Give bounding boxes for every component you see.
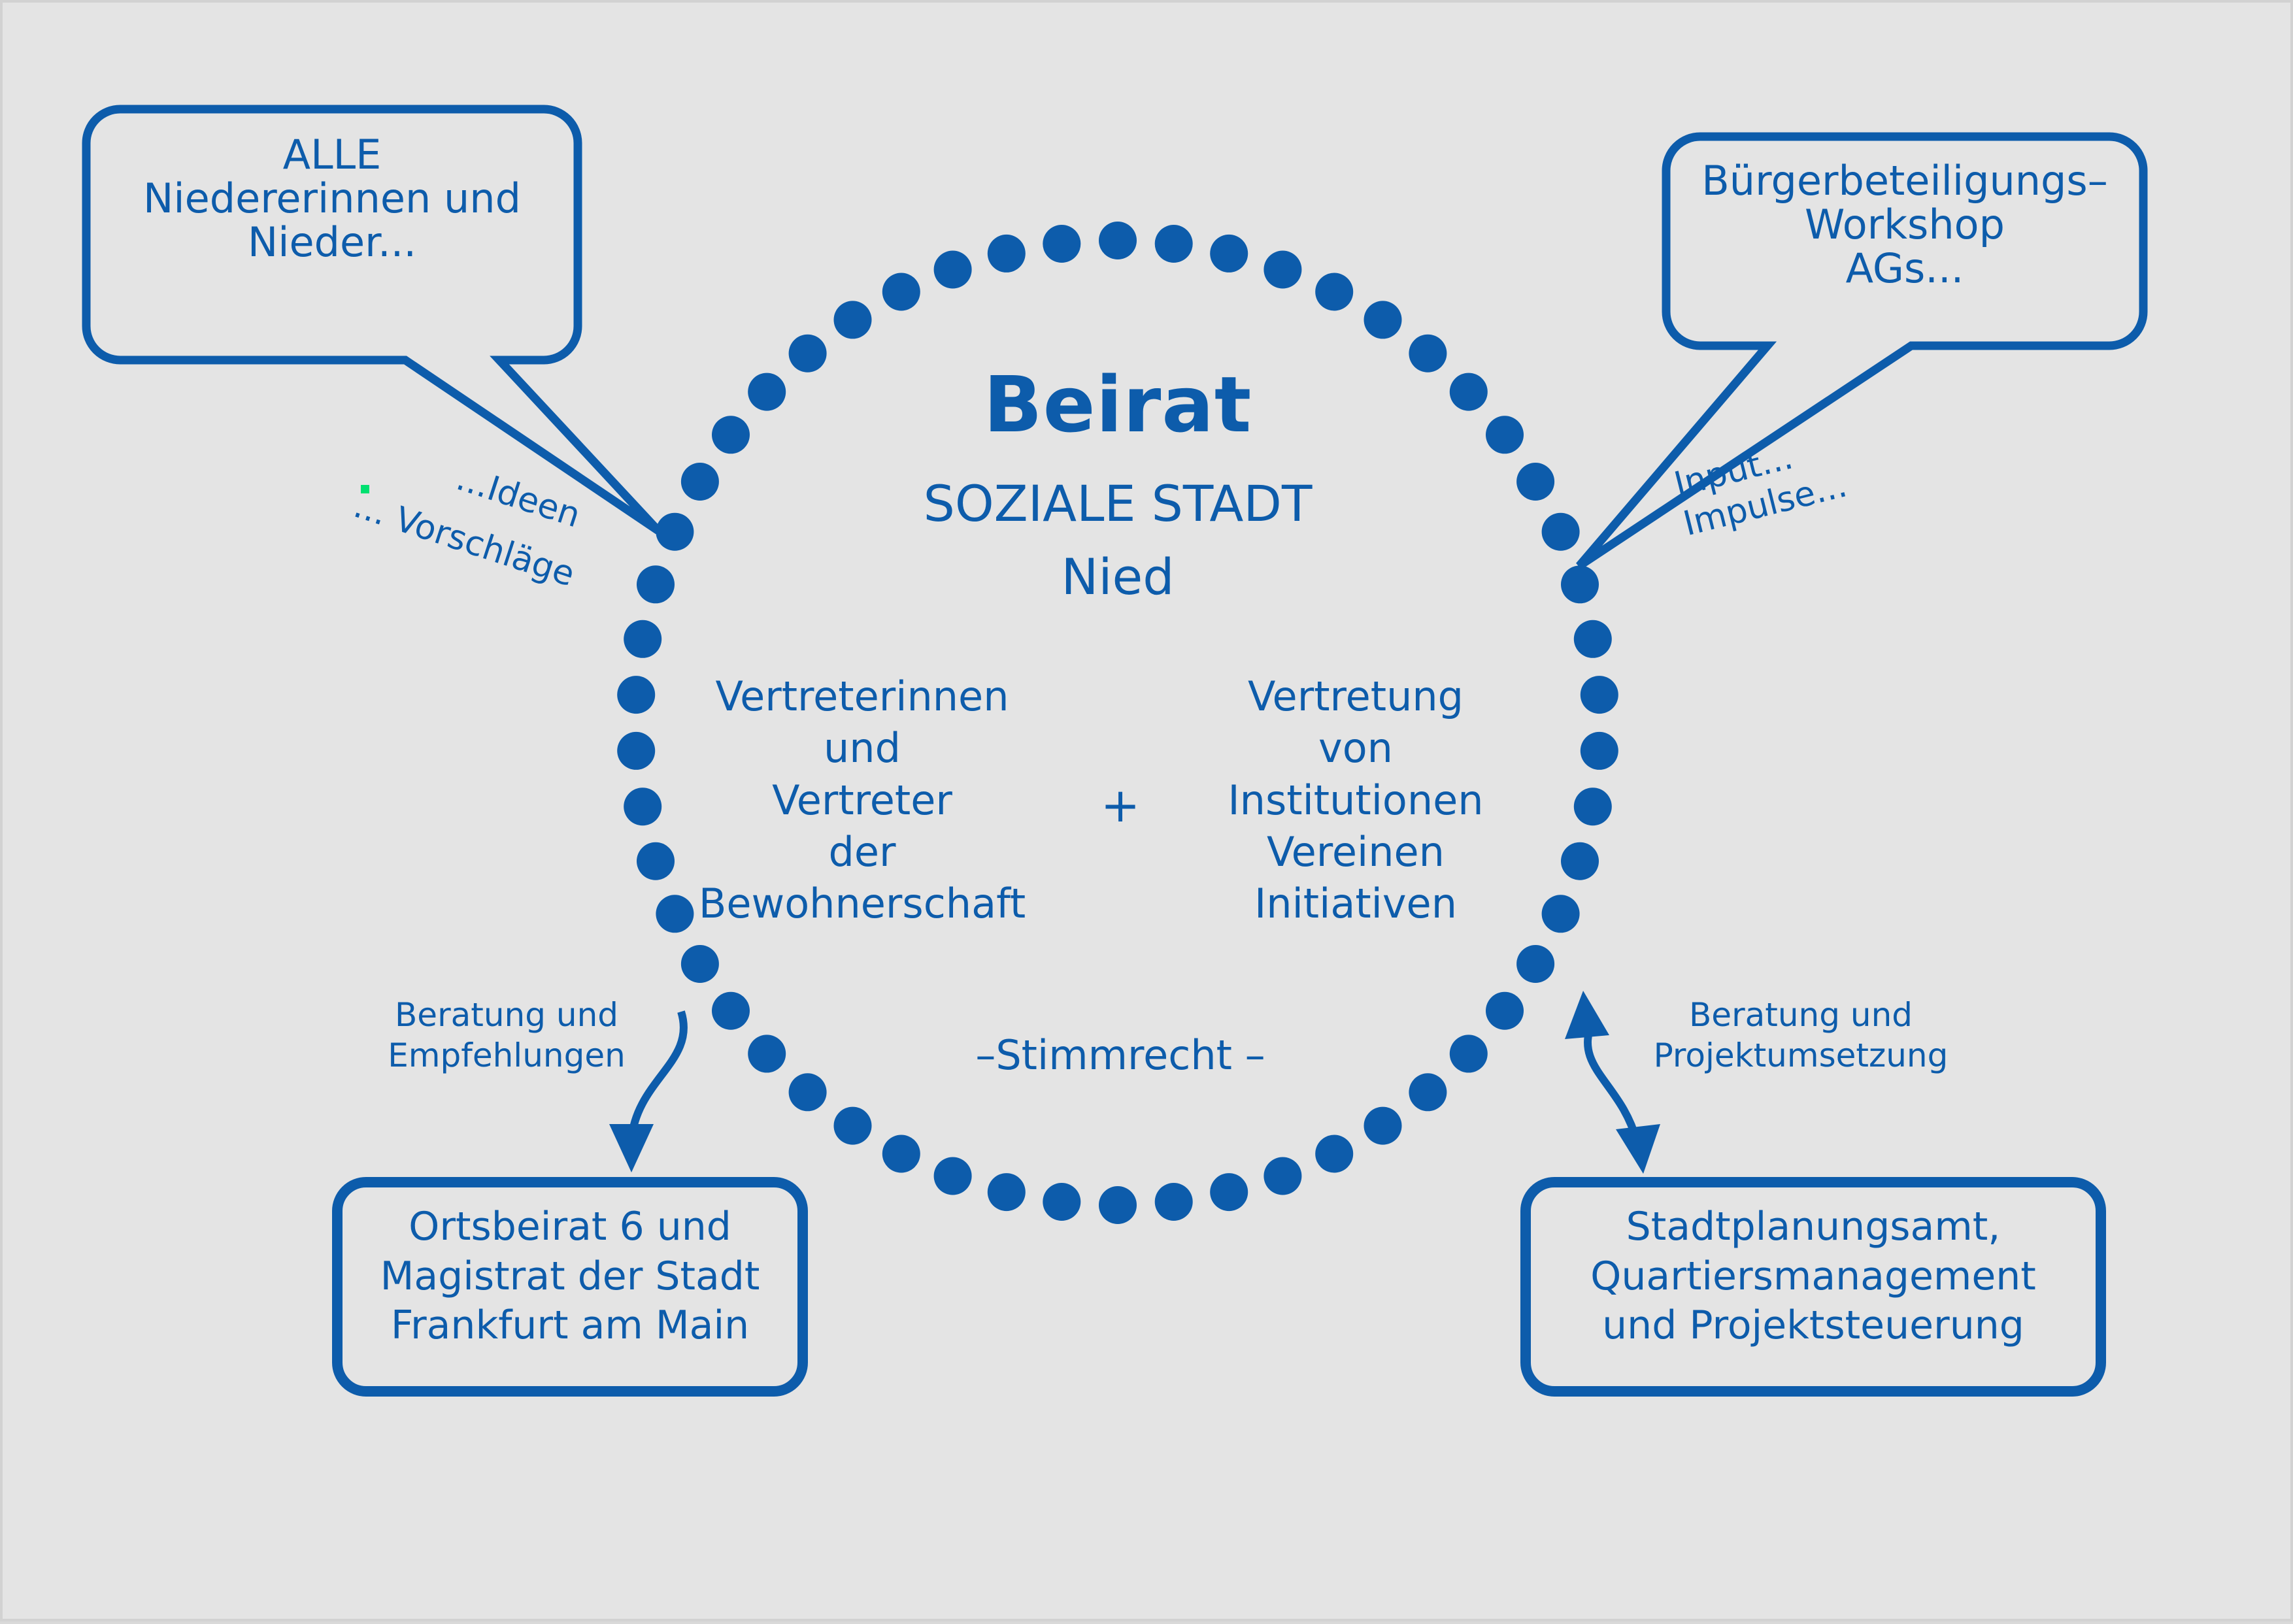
- circle-dot: [1486, 992, 1524, 1030]
- bubble-text-top-right: Bürgerbeteiligungs– Workshop AGs...: [1677, 159, 2132, 291]
- circle-dot: [637, 565, 675, 603]
- circle-dot: [656, 895, 694, 933]
- circle-dot: [1581, 732, 1618, 770]
- circle-dot: [1043, 225, 1080, 263]
- circle-dot: [1450, 1035, 1488, 1072]
- circle-dot: [624, 620, 661, 658]
- circle-dot: [1264, 251, 1301, 289]
- circle-dot: [1364, 301, 1402, 339]
- connector-label-right-beratung: Beratung und Projektumsetzung: [1647, 995, 1954, 1076]
- center-footer-stimmrecht: –Stimmrecht –: [833, 1034, 1408, 1078]
- diagram-canvas: ALLE Niedererinnen und Nieder... Bürgerb…: [0, 0, 2293, 1621]
- circle-dot: [748, 373, 786, 411]
- circle-dot: [882, 1135, 920, 1173]
- arrow-head-right-down: [1616, 1124, 1660, 1174]
- circle-dot: [637, 842, 675, 880]
- circle-dot: [1043, 1183, 1080, 1221]
- arrow-right-bottom: [1588, 1022, 1637, 1141]
- circle-dot: [1574, 620, 1612, 658]
- center-left-column: Vertreterinnen und Vertreter der Bewohne…: [695, 671, 1029, 930]
- circle-dot: [1409, 1073, 1447, 1111]
- circle-dot: [1315, 273, 1353, 311]
- circle-dot: [617, 732, 655, 770]
- center-right-column: Vertretung von Institutionen Vereinen In…: [1186, 671, 1526, 930]
- circle-dot: [1099, 1186, 1137, 1224]
- box-text-bottom-right: Stadtplanungsamt, Quartiersmanagement un…: [1526, 1202, 2101, 1351]
- circle-dot: [934, 251, 972, 289]
- circle-dot: [789, 1073, 827, 1111]
- circle-dot: [712, 416, 750, 454]
- circle-dot: [1574, 787, 1612, 825]
- circle-dot: [1516, 945, 1554, 983]
- circle-dot: [624, 787, 661, 825]
- circle-dot: [1210, 235, 1248, 273]
- circle-dot: [934, 1157, 972, 1195]
- box-text-bottom-left: Ortsbeirat 6 und Magistrat der Stadt Fra…: [337, 1202, 803, 1351]
- circle-dot: [1364, 1107, 1402, 1145]
- circle-dot: [834, 1107, 872, 1145]
- circle-dot: [1486, 416, 1524, 454]
- circle-dot: [1155, 1183, 1193, 1221]
- center-subtitle-line2: Nied: [791, 550, 1445, 604]
- center-subtitle-line1: SOZIALE STADT: [791, 477, 1445, 531]
- arrow-head-right-up: [1565, 991, 1609, 1039]
- circle-dot: [656, 513, 694, 551]
- arrow-head-left-bottom: [609, 1124, 654, 1172]
- connector-label-left-beratung: Beratung und Empfehlungen: [366, 995, 647, 1076]
- circle-dot: [1542, 513, 1580, 551]
- circle-dot: [1561, 565, 1599, 603]
- circle-dot: [1315, 1135, 1353, 1173]
- circle-dot: [712, 992, 750, 1030]
- circle-dot: [882, 273, 920, 311]
- circle-dot: [748, 1035, 786, 1072]
- circle-dot: [1155, 225, 1193, 263]
- circle-dot: [1561, 842, 1599, 880]
- circle-dot: [1450, 373, 1488, 411]
- circle-dot: [617, 676, 655, 714]
- circle-dot: [681, 945, 719, 983]
- circle-dot: [1542, 895, 1580, 933]
- circle-dot: [1210, 1173, 1248, 1211]
- circle-dot: [834, 301, 872, 339]
- bubble-text-top-left: ALLE Niedererinnen und Nieder...: [99, 133, 565, 265]
- circle-dot: [988, 235, 1026, 273]
- circle-dot: [681, 463, 719, 501]
- circle-dot: [1264, 1157, 1301, 1195]
- circle-dot: [988, 1173, 1026, 1211]
- circle-dot: [1516, 463, 1554, 501]
- circle-dot: [1581, 676, 1618, 714]
- circle-dot: [1099, 222, 1137, 259]
- page-title: Beirat: [791, 363, 1445, 446]
- center-plus-sign: +: [1075, 780, 1166, 831]
